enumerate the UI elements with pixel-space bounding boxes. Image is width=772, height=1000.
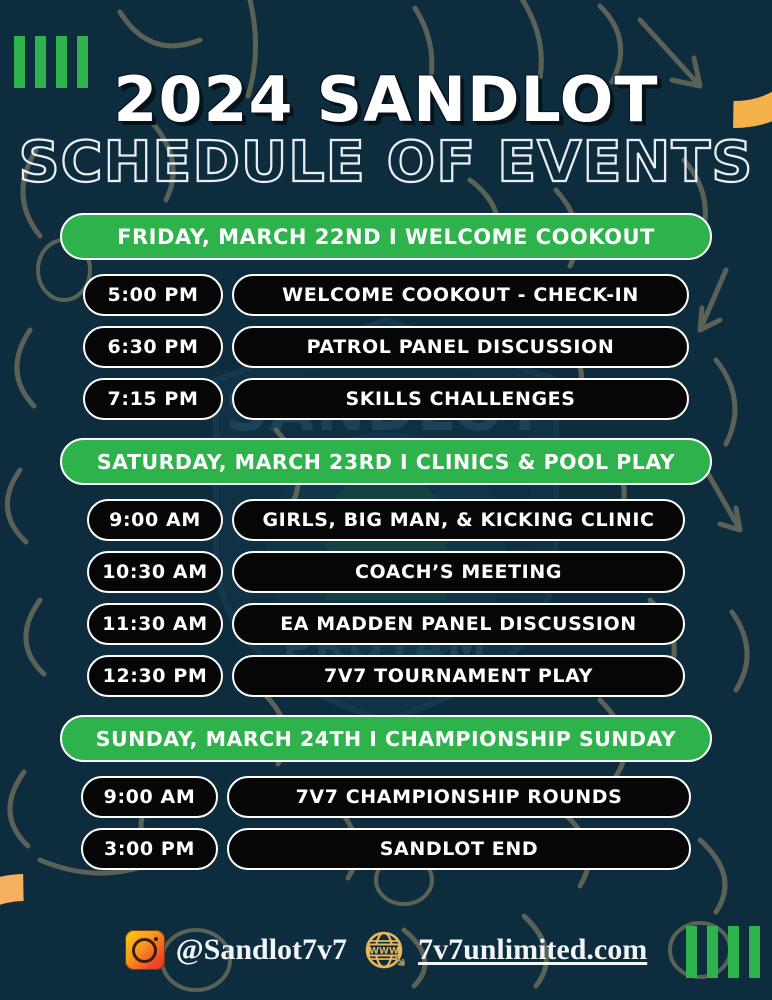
instagram-group[interactable]: @Sandlot7v7 xyxy=(125,930,347,970)
schedule-section-saturday: SATURDAY, MARCH 23RD I CLINICS & POOL PL… xyxy=(0,438,772,697)
row-event: 7V7 TOURNAMENT PLAY xyxy=(232,655,685,697)
svg-text:WWW: WWW xyxy=(369,947,399,957)
table-row: 10:30 AM COACH’S MEETING xyxy=(87,551,685,593)
row-event: COACH’S MEETING xyxy=(232,551,685,593)
day-header-saturday: SATURDAY, MARCH 23RD I CLINICS & POOL PL… xyxy=(60,438,712,485)
page-subtitle: SCHEDULE OF EVENTS xyxy=(0,135,772,191)
table-row: 9:00 AM GIRLS, BIG MAN, & KICKING CLINIC xyxy=(87,499,685,541)
row-event: SKILLS CHALLENGES xyxy=(232,378,689,420)
row-time: 11:30 AM xyxy=(87,603,223,645)
website-link[interactable]: 7v7unlimited.com xyxy=(418,933,647,967)
poster-header: 2024 SANDLOT SCHEDULE OF EVENTS xyxy=(0,70,772,191)
table-row: 9:00 AM 7V7 CHAMPIONSHIP ROUNDS xyxy=(81,776,691,818)
table-row: 11:30 AM EA MADDEN PANEL DISCUSSION xyxy=(87,603,685,645)
row-time: 9:00 AM xyxy=(87,499,223,541)
schedule-list: FRIDAY, MARCH 22ND I WELCOME COOKOUT 5:0… xyxy=(0,213,772,888)
website-group[interactable]: WWW 7v7unlimited.com xyxy=(363,928,647,972)
schedule-section-friday: FRIDAY, MARCH 22ND I WELCOME COOKOUT 5:0… xyxy=(0,213,772,420)
row-time: 3:00 PM xyxy=(81,828,218,870)
row-time: 12:30 PM xyxy=(87,655,223,697)
row-event: WELCOME COOKOUT - CHECK-IN xyxy=(232,274,689,316)
rows-saturday: 9:00 AM GIRLS, BIG MAN, & KICKING CLINIC… xyxy=(0,499,772,697)
row-time: 7:15 PM xyxy=(83,378,223,420)
page-title: 2024 SANDLOT xyxy=(0,70,772,131)
day-header-friday: FRIDAY, MARCH 22ND I WELCOME COOKOUT xyxy=(60,213,712,260)
row-event: 7V7 CHAMPIONSHIP ROUNDS xyxy=(227,776,691,818)
day-header-sunday: SUNDAY, MARCH 24TH I CHAMPIONSHIP SUNDAY xyxy=(60,715,712,762)
row-time: 9:00 AM xyxy=(81,776,218,818)
instagram-icon[interactable] xyxy=(125,930,165,970)
row-time: 6:30 PM xyxy=(83,326,223,368)
table-row: 6:30 PM PATROL PANEL DISCUSSION xyxy=(83,326,689,368)
schedule-section-sunday: SUNDAY, MARCH 24TH I CHAMPIONSHIP SUNDAY… xyxy=(0,715,772,870)
poster-footer: @Sandlot7v7 WWW 7v7unlimited.com xyxy=(0,928,772,972)
rows-friday: 5:00 PM WELCOME COOKOUT - CHECK-IN 6:30 … xyxy=(0,274,772,420)
row-event: PATROL PANEL DISCUSSION xyxy=(232,326,689,368)
row-time: 5:00 PM xyxy=(83,274,223,316)
row-time: 10:30 AM xyxy=(87,551,223,593)
rows-sunday: 9:00 AM 7V7 CHAMPIONSHIP ROUNDS 3:00 PM … xyxy=(0,776,772,870)
table-row: 12:30 PM 7V7 TOURNAMENT PLAY xyxy=(87,655,685,697)
globe-www-icon[interactable]: WWW xyxy=(363,928,407,972)
table-row: 5:00 PM WELCOME COOKOUT - CHECK-IN xyxy=(83,274,689,316)
table-row: 3:00 PM SANDLOT END xyxy=(81,828,691,870)
row-event: GIRLS, BIG MAN, & KICKING CLINIC xyxy=(232,499,685,541)
row-event: SANDLOT END xyxy=(227,828,691,870)
instagram-handle: @Sandlot7v7 xyxy=(176,933,347,967)
table-row: 7:15 PM SKILLS CHALLENGES xyxy=(83,378,689,420)
row-event: EA MADDEN PANEL DISCUSSION xyxy=(232,603,685,645)
